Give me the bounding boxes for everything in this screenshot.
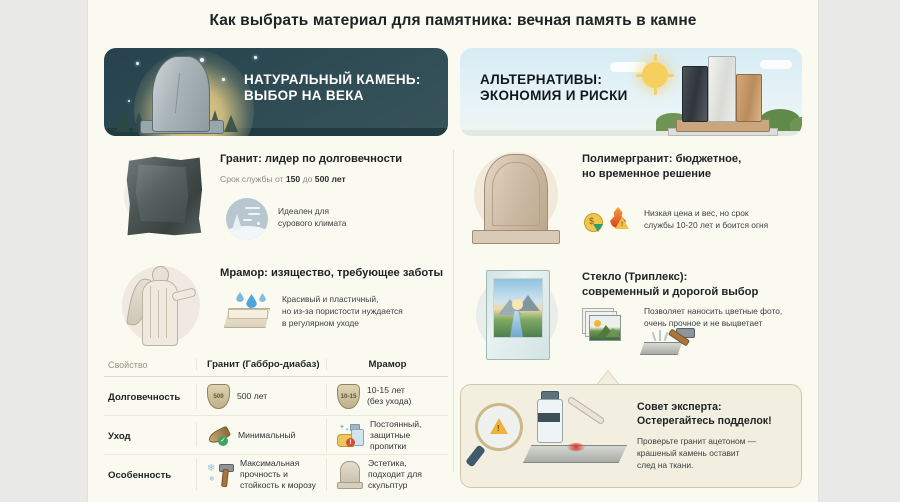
marble-statue-icon xyxy=(130,264,198,350)
granite-heading: Гранит: лидер по долговечности xyxy=(220,152,444,167)
photo-stack-icon xyxy=(582,308,626,342)
table-row: Уход ✓ Минимальный ! ✦ ✦ xyxy=(104,416,448,455)
water-drop-icon xyxy=(236,292,244,302)
brush-check-icon: ✓ xyxy=(207,423,231,447)
glass-note: Позволяет наносить цветные фото, очень п… xyxy=(644,306,804,330)
tip-heading: Совет эксперта: Остерегайтесь подделок! xyxy=(637,401,772,429)
table-row: Особенность ❄ ❄ Максимальная прочность и… xyxy=(104,455,448,493)
sun-icon xyxy=(642,62,668,88)
water-drop-icon xyxy=(246,294,257,308)
sponge-spray-icon: ! ✦ ✦ xyxy=(337,422,363,448)
magnifier-warning-icon: ! xyxy=(475,403,523,451)
table-header-row: Свойство Гранит (Габбро-диабаз) Мрамор xyxy=(104,352,448,377)
banner-left-title: НАТУРАЛЬНЫЙ КАМЕНЬ: ВЫБОР НА ВЕКА xyxy=(244,72,421,105)
cell-marble-durability: 10-15 лет (без ухода) xyxy=(367,385,411,407)
standing-stone-icon xyxy=(152,56,210,132)
infographic-card: Как выбрать материал для памятника: вечн… xyxy=(88,0,818,502)
lifespan-prefix: Срок службы от xyxy=(220,174,286,184)
banner-alternatives: АЛЬТЕРНАТИВЫ: ЭКОНОМИЯ И РИСКИ xyxy=(460,48,802,136)
star-icon xyxy=(222,78,225,81)
banner-natural-stone: НАТУРАЛЬНЫЙ КАМЕНЬ: ВЫБОР НА ВЕКА xyxy=(104,48,448,136)
page-title: Как выбрать материал для памятника: вечн… xyxy=(88,12,818,30)
expert-tip-callout: ! Совет эксперта: Остерегайтесь подделок… xyxy=(460,384,802,488)
glass-photo-scene xyxy=(493,278,543,338)
monument-base-icon xyxy=(472,230,560,244)
cloud-icon xyxy=(760,60,792,69)
star-icon xyxy=(200,58,204,62)
sun-ray xyxy=(667,74,674,77)
tip-body: Проверьте гранит ацетоном — крашеный кам… xyxy=(637,435,756,472)
th-granite: Гранит (Габбро-диабаз) xyxy=(207,359,320,370)
polymer-note: Низкая цена и вес, но срок службы 10-20 … xyxy=(644,208,802,232)
banner-right-title: АЛЬТЕРНАТИВЫ: ЭКОНОМИЯ И РИСКИ xyxy=(480,72,628,105)
cotton-swab-icon xyxy=(567,396,606,425)
star-icon xyxy=(254,56,257,59)
sun-ray xyxy=(636,74,643,77)
granite-note: Идеален для сурового климата xyxy=(278,206,444,230)
th-marble: Мрамор xyxy=(369,359,407,370)
shield-value: 10-15 xyxy=(341,393,357,400)
granite-lifespan: Срок службы от 150 до 500 лет xyxy=(220,174,444,184)
block-polymer-granite: Полимергранит: бюджетное, но временное р… xyxy=(460,146,802,256)
th-property: Свойство xyxy=(108,360,148,370)
infographic-page: Как выбрать материал для памятника: вечн… xyxy=(0,0,900,502)
sun-ray xyxy=(654,88,657,95)
cell-marble-feature: Эстетика, подходит для скульптур xyxy=(368,458,422,491)
glass-heading: Стекло (Триплекс): современный и дорогой… xyxy=(582,270,802,299)
row-label-care: Уход xyxy=(108,431,131,442)
cell-granite-durability: 500 лет xyxy=(237,391,267,402)
monument-slabs-icon xyxy=(708,56,736,122)
column-divider xyxy=(453,150,454,472)
water-drop-icon xyxy=(259,293,266,302)
fir-tree-icon xyxy=(224,115,238,132)
cell-marble-care: Постоянный, защитные пропитки xyxy=(370,419,421,452)
comparison-table: Свойство Гранит (Габбро-диабаз) Мрамор Д… xyxy=(104,352,448,493)
marble-heading: Мрамор: изящество, требующее заботы xyxy=(220,266,448,281)
cell-granite-feature: Максимальная прочность и стойкость к мор… xyxy=(240,458,316,491)
star-icon xyxy=(136,62,139,65)
hammer-snowflake-icon: ❄ ❄ xyxy=(207,461,233,487)
shield-icon: 10-15 xyxy=(337,384,360,409)
sun-ray xyxy=(654,54,657,61)
callout-pointer xyxy=(597,371,619,385)
cell-granite-care: Минимальный xyxy=(238,430,295,441)
star-icon xyxy=(128,100,130,102)
polymer-heading: Полимергранит: бюджетное, но временное р… xyxy=(582,152,802,181)
bust-sculpture-icon xyxy=(337,461,361,487)
shield-value: 500 xyxy=(213,393,223,400)
table-row: Долговечность 500 500 лет 10-15 10-15 ле… xyxy=(104,377,448,416)
lifespan-unit: лет xyxy=(329,174,346,184)
fire-warning-icon: ! xyxy=(610,204,636,234)
row-label-durability: Долговечность xyxy=(108,392,180,403)
monument-slab-dark-icon xyxy=(682,66,708,122)
lifespan-min: 150 xyxy=(286,174,300,184)
fir-tree-icon xyxy=(116,106,130,132)
lifespan-mid: до xyxy=(300,174,315,184)
porous-slab-water-drops-icon xyxy=(222,292,276,332)
bush-icon xyxy=(790,117,802,131)
bottle-label xyxy=(538,413,560,422)
acetone-stain xyxy=(567,443,585,451)
magnifier-handle xyxy=(465,445,486,468)
row-label-feature: Особенность xyxy=(108,470,171,481)
block-glass: Стекло (Триплекс): современный и дорогой… xyxy=(460,264,802,370)
hammer-impact-icon xyxy=(640,326,698,360)
monument-slab-brown-icon xyxy=(736,74,762,122)
granite-face xyxy=(134,162,190,226)
block-granite: Гранит: лидер по долговечности Срок служ… xyxy=(104,146,448,250)
shield-icon: 500 xyxy=(207,384,230,409)
block-marble: Мрамор: изящество, требующее заботы Крас… xyxy=(104,258,448,350)
lifespan-max: 500 xyxy=(315,174,329,184)
winter-climate-icon xyxy=(226,198,268,240)
marble-note: Красивый и пластичный, но из-за пористос… xyxy=(282,294,448,330)
